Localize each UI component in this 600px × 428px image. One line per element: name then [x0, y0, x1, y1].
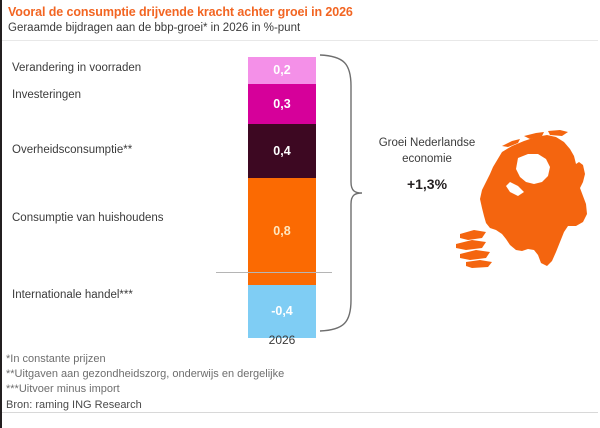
bar-segment-value-2: 0,4	[273, 145, 290, 158]
growth-annotation-line2: economie	[402, 153, 452, 165]
bar-segment-value-3: 0,8	[273, 225, 290, 238]
bar-segment-value-1: 0,3	[273, 98, 290, 111]
footnote-2: **Uitgaven aan gezondheidszorg, onderwij…	[6, 367, 284, 382]
category-label-4: Internationale handel***	[12, 289, 133, 301]
bar-segment-value-0: 0,2	[273, 64, 290, 77]
zero-axis-line	[216, 272, 332, 273]
bar-segment-0: 0,2	[248, 57, 316, 84]
bar-segment-4: -0,4	[248, 285, 316, 339]
footnote-3: ***Uitvoer minus import	[6, 382, 284, 397]
x-axis-tick-label: 2026	[248, 333, 316, 347]
bar-segment-3: 0,8	[248, 178, 316, 285]
netherlands-map-icon	[452, 122, 600, 275]
category-label-0: Verandering in voorraden	[12, 62, 141, 74]
category-label-3: Consumptie van huishoudens	[12, 212, 164, 224]
footnote-1: *In constante prijzen	[6, 352, 284, 367]
footnotes: *In constante prijzen **Uitgaven aan gez…	[6, 352, 284, 413]
total-brace-icon	[318, 54, 370, 337]
bar-segment-value-4: -0,4	[271, 305, 293, 318]
bar-segment-1: 0,3	[248, 84, 316, 124]
divider-bottom	[2, 412, 598, 413]
category-label-1: Investeringen	[12, 89, 81, 101]
category-label-2: Overheidsconsumptie**	[12, 144, 132, 156]
bar-segment-2: 0,4	[248, 124, 316, 178]
bar-stack-2026: 0,20,30,40,8-0,4	[248, 57, 316, 338]
source-note: Bron: raming ING Research	[6, 398, 284, 413]
